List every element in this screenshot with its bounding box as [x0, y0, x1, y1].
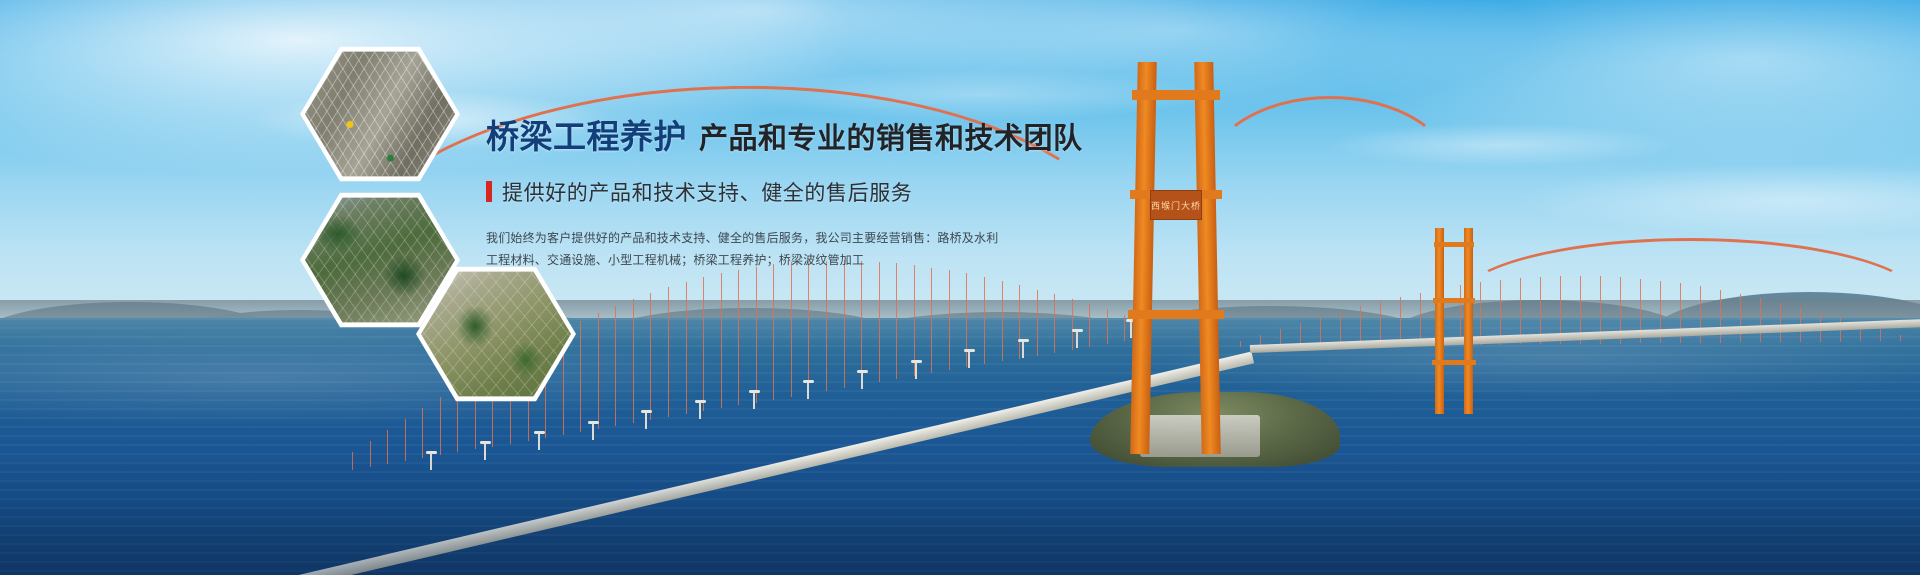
headline-secondary: 产品和专业的销售和技术团队 [699, 123, 1083, 155]
banner-copy: 桥梁工程养护产品和专业的销售和技术团队 提供好的产品和技术支持、健全的售后服务 … [486, 118, 1046, 271]
hex-photo-image-2 [305, 195, 455, 325]
tower-name-plaque: 西堠门大桥 [1150, 190, 1202, 220]
description-line-2: 工程材料、交通设施、小型工程机械；桥梁工程养护；桥梁波纹管加工 [486, 249, 916, 271]
headline-primary: 桥梁工程养护 [486, 118, 687, 155]
banner-description: 我们始终为客户提供好的产品和技术支持、健全的售后服务，我公司主要经营销售：路桥及… [486, 227, 916, 271]
subheadline-text: 提供好的产品和技术支持、健全的售后服务 [502, 177, 912, 207]
accent-bar-icon [486, 181, 492, 202]
hanger-cables [0, 0, 1920, 575]
hero-banner: 西堠门大桥 桥梁工程养护产品和专业的销售和技术团队 提供好的产品和技术支持、健全… [0, 0, 1920, 575]
banner-headline: 桥梁工程养护产品和专业的销售和技术团队 [486, 118, 1046, 157]
suspension-bridge: 西堠门大桥 [0, 0, 1920, 575]
bridge-tower-main [1128, 62, 1224, 454]
hex-photo-image-1 [305, 49, 455, 179]
hex-photo-image-3 [421, 269, 571, 399]
description-line-1: 我们始终为客户提供好的产品和技术支持、健全的售后服务，我公司主要经营销售：路桥及… [486, 227, 916, 249]
bridge-tower-far [1432, 228, 1476, 414]
banner-subheadline: 提供好的产品和技术支持、健全的售后服务 [486, 177, 1046, 207]
hex-photo-rock-slope-mesh-workers[interactable] [300, 44, 460, 184]
